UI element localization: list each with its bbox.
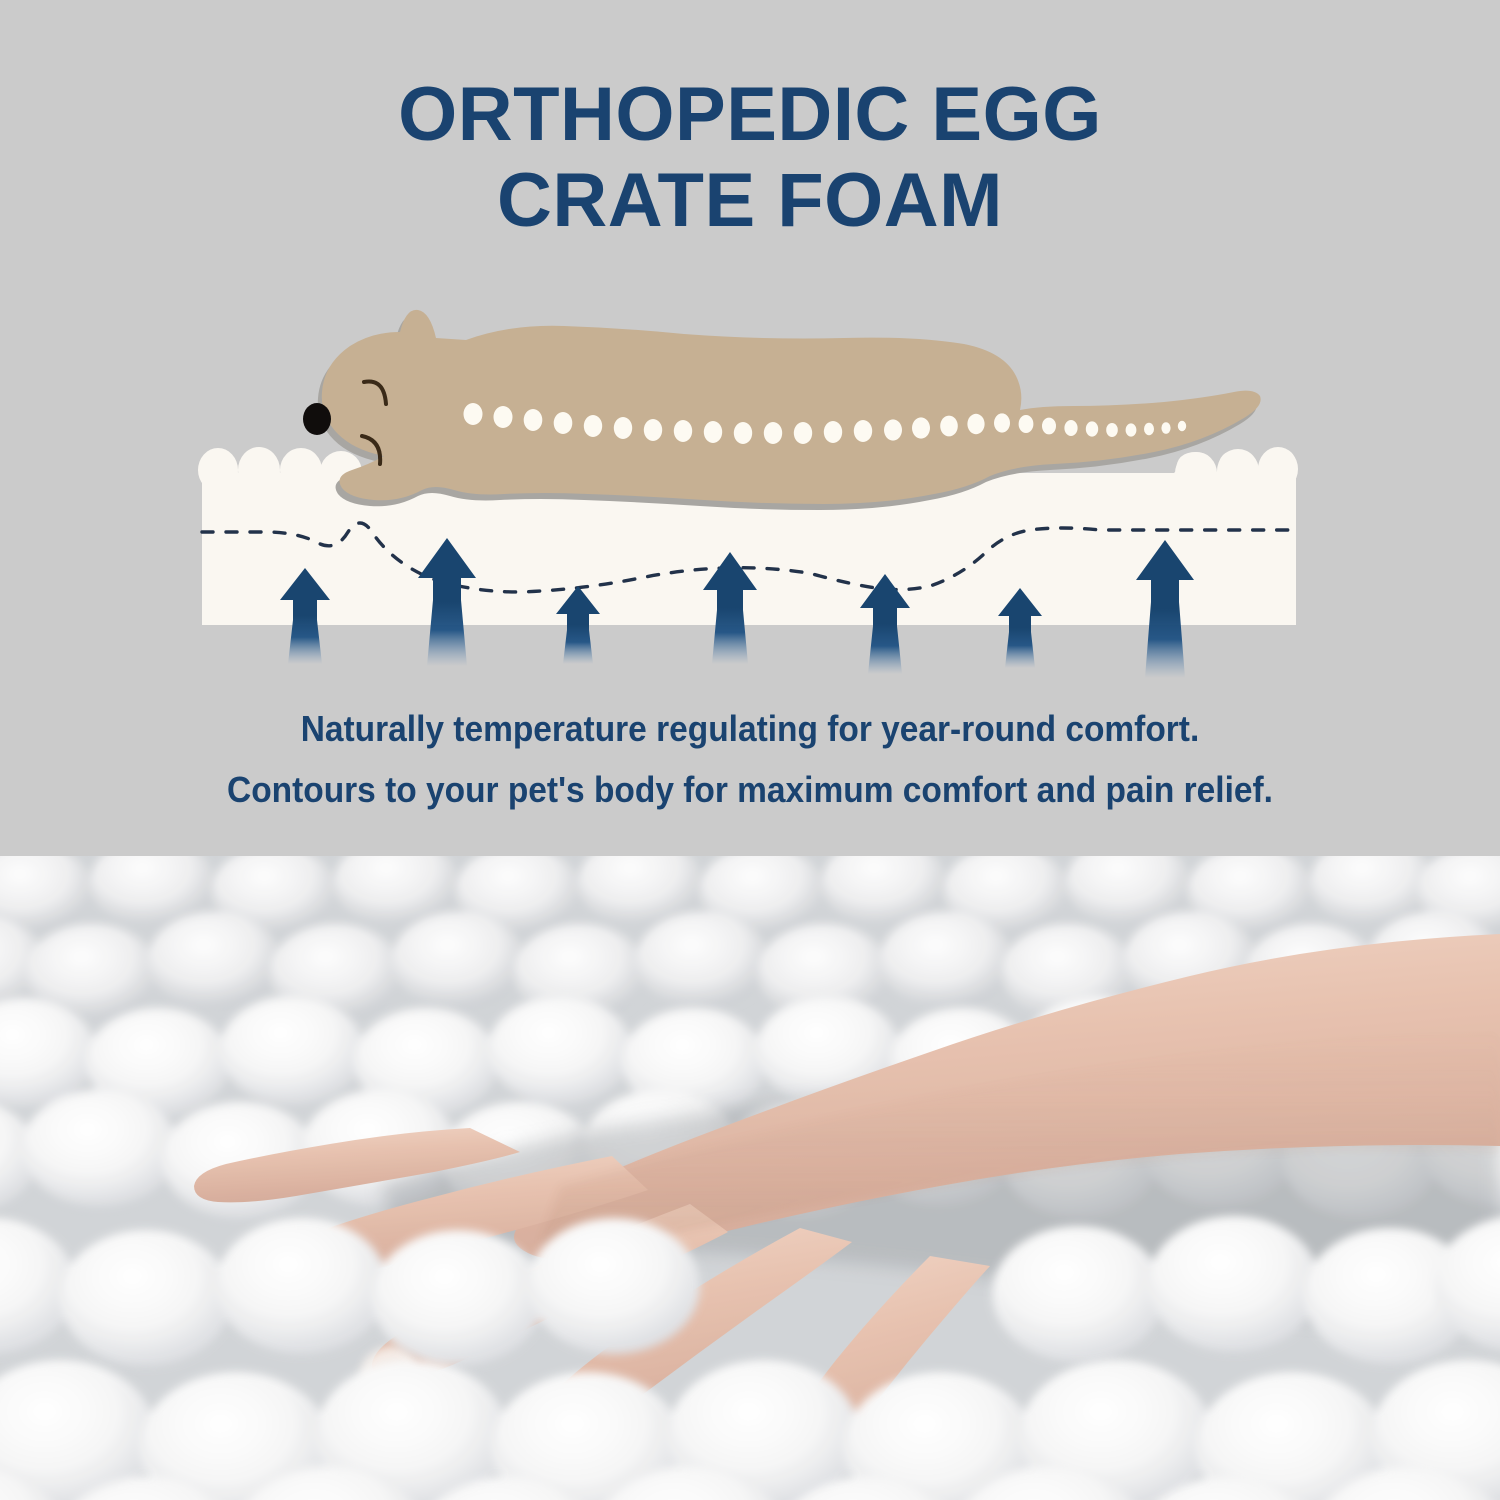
page-title: ORTHOPEDIC EGG CRATE FOAM [0,72,1500,244]
caption-line-1: Naturally temperature regulating for yea… [53,698,1448,759]
headline-line-2: CRATE FOAM [0,158,1500,244]
photo-vignette [0,856,1500,1500]
foam-photo [0,856,1500,1500]
caption-line-2: Contours to your pet's body for maximum … [53,759,1448,820]
headline-line-1: ORTHOPEDIC EGG [0,72,1500,158]
feature-caption: Naturally temperature regulating for yea… [53,698,1448,820]
foam-scallops-right [1175,447,1298,494]
foam-photo-graphic [0,856,1500,1500]
dog-nose [303,403,331,435]
product-infographic: ORTHOPEDIC EGG CRATE FOAM [0,0,1500,1500]
infographic-panel: ORTHOPEDIC EGG CRATE FOAM [0,0,1500,856]
foam-support-illustration [0,300,1500,680]
